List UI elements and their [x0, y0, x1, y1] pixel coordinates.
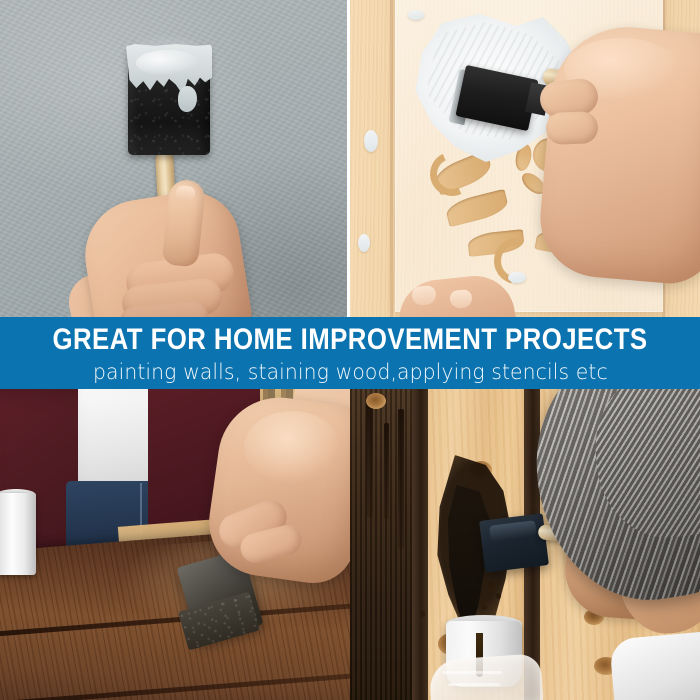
product-lifestyle-collage: GREAT FOR HOME IMPROVEMENT PROJECTS pain…	[0, 0, 700, 700]
paint-drop	[408, 10, 424, 20]
paint-highlight	[136, 50, 200, 76]
banner-headline: GREAT FOR HOME IMPROVEMENT PROJECTS	[52, 325, 647, 355]
scene-applying-stencils	[350, 0, 700, 318]
panel-staining-table	[0, 389, 350, 700]
stain-spatter	[420, 611, 425, 617]
banner-subheadline: painting walls, staining wood,applying s…	[93, 362, 608, 383]
white-shirt-collar	[609, 630, 700, 700]
stain-drip	[366, 397, 373, 517]
paint-drop	[364, 130, 378, 152]
scene-staining-fence	[350, 389, 700, 700]
glove-fold	[442, 671, 502, 674]
stain-drip	[398, 409, 404, 549]
hand-highlight	[244, 411, 340, 483]
panel-staining-fence	[350, 389, 700, 700]
stain-spatter	[496, 593, 501, 599]
plank-seam-left	[390, 0, 393, 318]
paint-drop	[358, 234, 370, 252]
stain-drip	[384, 423, 389, 519]
paint-drop	[508, 272, 526, 283]
panel-applying-stencils	[350, 0, 700, 318]
stain-spatter	[488, 581, 494, 588]
plank-gap	[412, 389, 428, 700]
paint-can	[0, 493, 36, 575]
promo-banner: GREAT FOR HOME IMPROVEMENT PROJECTS pain…	[0, 317, 700, 389]
stain-spatter	[482, 605, 487, 610]
finger-thumb	[545, 111, 598, 145]
glove-fold	[448, 683, 500, 686]
panel-painting-walls	[0, 0, 347, 318]
scene-staining-table	[0, 389, 350, 700]
scene-painting-walls	[0, 0, 347, 318]
wood-knot	[366, 393, 386, 409]
